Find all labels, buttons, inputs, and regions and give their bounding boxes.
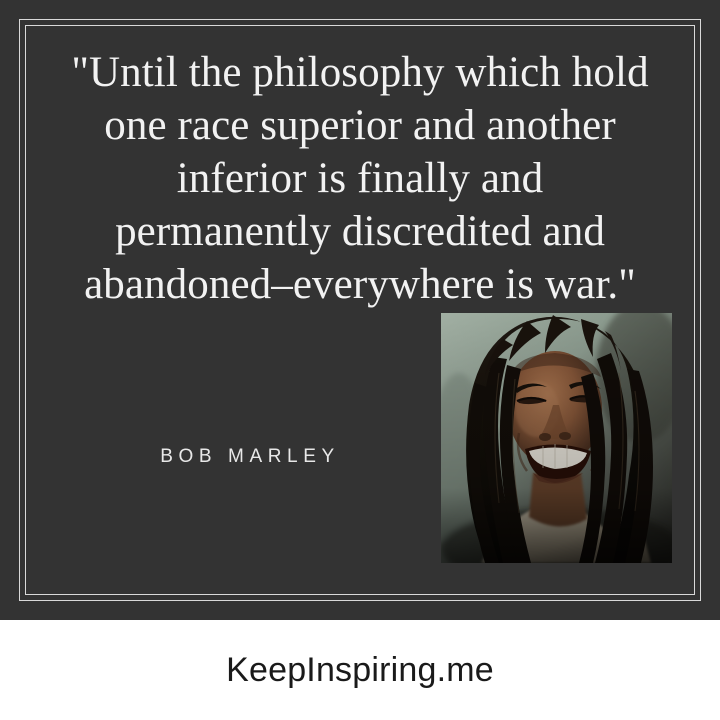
frame-step-bottom-left xyxy=(25,588,32,595)
footer-bar: KeepInspiring.me xyxy=(0,620,720,720)
frame-step-top-right xyxy=(688,25,695,32)
frame-step-bottom-right xyxy=(688,588,695,595)
site-watermark: KeepInspiring.me xyxy=(226,651,494,690)
frame-step-top-left xyxy=(25,25,32,32)
bob-marley-portrait-photo xyxy=(441,313,672,563)
quote-image-canvas: "Until the philosophy which hold one rac… xyxy=(0,0,720,720)
quote-attribution: BOB MARLEY xyxy=(60,446,440,468)
quote-text: "Until the philosophy which hold one rac… xyxy=(32,46,688,311)
quote-card: "Until the philosophy which hold one rac… xyxy=(0,0,720,620)
